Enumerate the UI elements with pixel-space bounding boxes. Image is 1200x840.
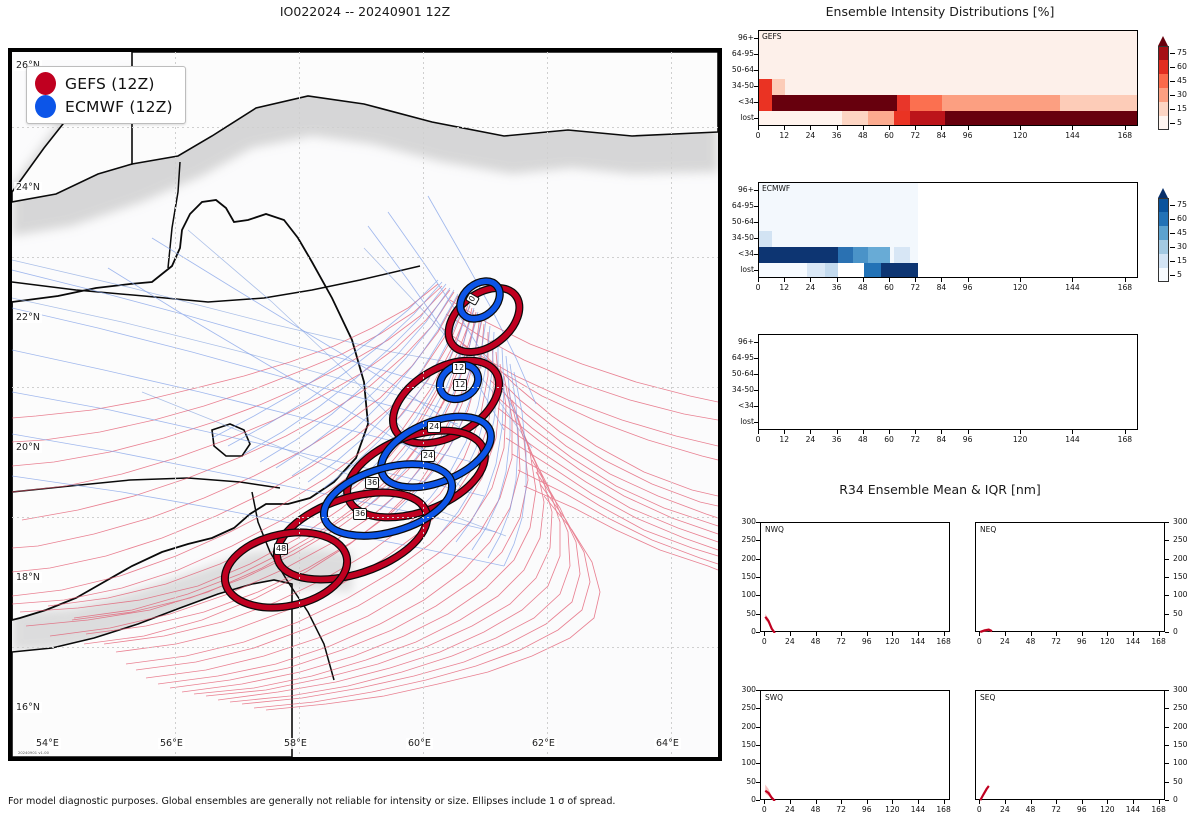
intensity-xtick: 12: [771, 131, 797, 140]
r34-ytick: 100: [734, 758, 756, 767]
r34-xtick: 48: [1020, 805, 1042, 814]
r34-xtick: 0: [753, 637, 775, 646]
r34-xtick: 0: [968, 805, 990, 814]
heatmap-cell: [759, 31, 1138, 47]
colorbar-tick-mark: [1170, 261, 1175, 262]
xtick-mark: [1125, 430, 1126, 434]
colorbar-tick-mark: [1170, 53, 1175, 54]
heatmap-cell: [868, 247, 890, 263]
r34-ytick: 300: [734, 685, 756, 694]
xtick-mark: [863, 126, 864, 130]
r34-xtick: 72: [830, 805, 852, 814]
r34-ytick: 50: [1173, 777, 1195, 786]
intensity-xtick: 36: [824, 131, 850, 140]
r34-xtick: 120: [1096, 805, 1118, 814]
r34-xtick: 120: [881, 637, 903, 646]
intensity-heatmap-empty[interactable]: [758, 334, 1138, 430]
r34-xtick-mark: [764, 632, 765, 636]
intensity-ytick: 64-95: [724, 353, 754, 362]
lat-label-16n: 16°N: [14, 702, 42, 713]
colorbar-tick-label: 5: [1177, 118, 1182, 127]
heatmap-cell: [838, 263, 864, 278]
r34-series-canvas: [976, 523, 1166, 633]
map-plot-frame[interactable]: 0 12 12 24 24 36 36 48 26°N 24°N 22°N 20…: [8, 48, 722, 761]
r34-xtick-mark: [1005, 632, 1006, 636]
lon-label-60e: 60°E: [406, 738, 433, 749]
heatmap-cell: [945, 111, 1138, 126]
r34-ytick-mark: [1165, 614, 1169, 615]
map-panel: IO022024 -- 20240901 12Z: [0, 0, 730, 840]
r34-xtick: 96: [1071, 637, 1093, 646]
legend-item-ecmwf[interactable]: ECMWF (12Z): [35, 95, 173, 118]
intensity-xtick: 96: [955, 283, 981, 292]
r34-xtick: 144: [907, 637, 929, 646]
intensity-xtick: 0: [745, 131, 771, 140]
colorbar-outline: [1158, 198, 1169, 282]
heatmap-cell: [910, 247, 919, 263]
r34-ytick-mark: [1165, 745, 1169, 746]
r34-xtick-mark: [918, 800, 919, 804]
colorbar-tick-label: 30: [1177, 90, 1187, 99]
intensity-xtick: 120: [1007, 131, 1033, 140]
heatmap-cell: [759, 231, 772, 247]
r34-ytick-mark: [756, 745, 760, 746]
r34-xtick: 24: [779, 805, 801, 814]
ytick-mark: [754, 374, 758, 375]
r34-ytick: 200: [1173, 554, 1195, 563]
r34-ytick: 200: [734, 722, 756, 731]
intensity-xtick: 120: [1007, 283, 1033, 292]
ytick-mark: [754, 206, 758, 207]
intensity-xtick: 48: [850, 435, 876, 444]
r34-ytick-mark: [1165, 522, 1169, 523]
colorbar-tick-mark: [1170, 275, 1175, 276]
intensity-xtick: 24: [797, 131, 823, 140]
xtick-mark: [837, 126, 838, 130]
r34-ytick: 250: [1173, 703, 1195, 712]
r34-ytick-mark: [756, 800, 760, 801]
r34-ytick-mark: [1165, 763, 1169, 764]
map-title: IO022024 -- 20240901 12Z: [0, 4, 730, 19]
r34-ytick-mark: [756, 763, 760, 764]
colorbar-tick-label: 60: [1177, 62, 1187, 71]
r34-ytick-mark: [756, 614, 760, 615]
xtick-mark: [1072, 430, 1073, 434]
gridline-64e: [671, 52, 672, 757]
intensity-ytick: 50-64: [724, 369, 754, 378]
intensity-ytick: 64-95: [724, 201, 754, 210]
ytick-mark: [754, 238, 758, 239]
r34-quadrant-nwq[interactable]: NWQ: [760, 522, 950, 632]
intensity-xtick: 84: [928, 435, 954, 444]
intensity-ytick: 96+: [724, 185, 754, 194]
heatmap-cell: [759, 215, 918, 231]
r34-quadrant-tag: SEQ: [980, 693, 995, 702]
intensity-ytick: <34: [724, 249, 754, 258]
colorbar-gefs[interactable]: 75604530155: [1158, 36, 1200, 146]
r34-xtick: 168: [1148, 805, 1170, 814]
r34-ytick-mark: [756, 782, 760, 783]
xtick-mark: [758, 126, 759, 130]
r34-ytick: 300: [1173, 517, 1195, 526]
intensity-ytick: lost: [724, 265, 754, 274]
r34-xtick: 144: [1122, 637, 1144, 646]
xtick-mark: [1020, 430, 1021, 434]
lat-label-22n: 22°N: [14, 312, 42, 323]
xtick-mark: [915, 430, 916, 434]
r34-ytick: 250: [734, 703, 756, 712]
xtick-mark: [889, 278, 890, 282]
xtick-mark: [784, 126, 785, 130]
intensity-xtick: 24: [797, 283, 823, 292]
intensity-xtick: 72: [902, 435, 928, 444]
r34-ytick: 150: [1173, 572, 1195, 581]
ytick-mark: [754, 390, 758, 391]
heatmap-cell: [759, 199, 918, 215]
r34-xtick: 72: [1045, 805, 1067, 814]
xtick-mark: [941, 430, 942, 434]
colorbar-tick-label: 15: [1177, 104, 1187, 113]
xtick-mark: [968, 430, 969, 434]
intensity-ytick: 96+: [724, 337, 754, 346]
intensity-heatmap-gefs[interactable]: GEFS: [758, 30, 1138, 126]
xtick-mark: [837, 430, 838, 434]
heatmap-model-tag: ECMWF: [762, 184, 790, 193]
r34-xtick-mark: [1107, 800, 1108, 804]
r34-ytick-mark: [756, 632, 760, 633]
footer-disclaimer: For model diagnostic purposes. Global en…: [8, 796, 728, 807]
colorbar-tick-label: 75: [1177, 48, 1187, 57]
xtick-mark: [810, 278, 811, 282]
lon-label-56e: 56°E: [158, 738, 185, 749]
r34-xtick: 0: [753, 805, 775, 814]
colorbar-tick-mark: [1170, 81, 1175, 82]
r34-ytick-mark: [1165, 595, 1169, 596]
ytick-mark: [754, 270, 758, 271]
r34-ytick-mark: [1165, 800, 1169, 801]
intensity-xtick: 48: [850, 131, 876, 140]
r34-xtick-mark: [979, 632, 980, 636]
r34-xtick-mark: [1005, 800, 1006, 804]
legend-item-gefs[interactable]: GEFS (12Z): [35, 72, 173, 95]
intensity-ytick: 50-64: [724, 217, 754, 226]
ytick-mark: [754, 342, 758, 343]
intensity-xtick: 24: [797, 435, 823, 444]
xtick-mark: [1072, 278, 1073, 282]
r34-ytick: 100: [1173, 758, 1195, 767]
ytick-mark: [754, 38, 758, 39]
r34-xtick: 144: [907, 805, 929, 814]
intensity-xtick: 144: [1059, 131, 1085, 140]
ytick-mark: [754, 422, 758, 423]
r34-xtick: 72: [1045, 637, 1067, 646]
r34-ytick-mark: [756, 708, 760, 709]
ellipse-label-ecmwf-24: 24: [427, 421, 441, 433]
colorbar-tick-label: 45: [1177, 76, 1187, 85]
r34-xtick: 168: [1148, 637, 1170, 646]
r34-ytick: 150: [734, 572, 756, 581]
ytick-mark: [754, 102, 758, 103]
colorbar-ecmwf[interactable]: 75604530155: [1158, 188, 1200, 298]
xtick-mark: [810, 430, 811, 434]
r34-title: R34 Ensemble Mean & IQR [nm]: [730, 482, 1150, 497]
r34-xtick: 96: [856, 805, 878, 814]
xtick-mark: [941, 126, 942, 130]
r34-xtick-mark: [1159, 632, 1160, 636]
r34-quadrant-seq[interactable]: SEQ: [975, 690, 1165, 800]
intensity-ytick: 34-50: [724, 385, 754, 394]
intensity-ytick: <34: [724, 97, 754, 106]
r34-ytick: 200: [734, 554, 756, 563]
intensity-heatmap-ecmwf[interactable]: ECMWF: [758, 182, 1138, 278]
colorbar-tick-label: 15: [1177, 256, 1187, 265]
r34-ytick: 0: [734, 627, 756, 636]
intensity-xtick: 168: [1112, 435, 1138, 444]
r34-xtick-mark: [918, 632, 919, 636]
heatmap-cell: [1060, 95, 1138, 111]
xtick-mark: [863, 278, 864, 282]
lat-label-18n: 18°N: [14, 572, 42, 583]
r34-ytick-mark: [756, 727, 760, 728]
colorbar-tick-mark: [1170, 95, 1175, 96]
ytick-mark: [754, 358, 758, 359]
r34-quadrant-neq[interactable]: NEQ: [975, 522, 1165, 632]
r34-xtick: 48: [805, 637, 827, 646]
xtick-mark: [889, 430, 890, 434]
r34-xtick: 144: [1122, 805, 1144, 814]
heatmap-cell: [881, 263, 918, 278]
r34-ytick: 50: [1173, 609, 1195, 618]
xtick-mark: [863, 430, 864, 434]
r34-ytick-mark: [756, 577, 760, 578]
ellipse-label-ecmwf-36: 36: [365, 477, 379, 489]
r34-xtick-mark: [1133, 632, 1134, 636]
heatmap-cell: [894, 247, 909, 263]
r34-xtick-mark: [1082, 632, 1083, 636]
intensity-xtick: 120: [1007, 435, 1033, 444]
gefs-marker-icon: [35, 72, 56, 95]
r34-ytick: 0: [734, 795, 756, 804]
colorbar-tick-mark: [1170, 247, 1175, 248]
ytick-mark: [754, 54, 758, 55]
heatmap-cell: [910, 95, 943, 111]
map-canvas[interactable]: 0 12 12 24 24 36 36 48 26°N 24°N 22°N 20…: [12, 52, 718, 757]
colorbar-tick-mark: [1170, 109, 1175, 110]
xtick-mark: [1020, 126, 1021, 130]
r34-xtick: 168: [933, 637, 955, 646]
heatmap-cell: [897, 95, 910, 111]
heatmap-cell: [838, 247, 853, 263]
colorbar-tick-mark: [1170, 123, 1175, 124]
intensity-xtick: 72: [902, 283, 928, 292]
r34-xtick-mark: [1133, 800, 1134, 804]
r34-series-canvas: [761, 691, 951, 801]
heatmap-cell: [825, 263, 838, 278]
gridline-58e: [299, 52, 300, 757]
heatmap-cell: [759, 79, 772, 95]
intensity-xtick: 60: [876, 283, 902, 292]
r34-ytick-mark: [756, 690, 760, 691]
r34-ytick-mark: [756, 522, 760, 523]
r34-ytick: 0: [1173, 627, 1195, 636]
lon-label-58e: 58°E: [282, 738, 309, 749]
map-legend[interactable]: GEFS (12Z) ECMWF (12Z): [26, 66, 186, 124]
r34-ytick-mark: [1165, 708, 1169, 709]
intensity-ytick: lost: [724, 417, 754, 426]
intensity-xtick: 84: [928, 131, 954, 140]
heatmap-cell: [868, 111, 894, 126]
r34-xtick: 24: [994, 637, 1016, 646]
intensity-xtick: 12: [771, 435, 797, 444]
heatmap-cell: [853, 247, 868, 263]
r34-ytick-mark: [1165, 727, 1169, 728]
gridline-22n: [12, 257, 718, 258]
colorbar-tick-label: 75: [1177, 200, 1187, 209]
r34-xtick: 0: [968, 637, 990, 646]
intensity-xtick: 144: [1059, 283, 1085, 292]
heatmap-cell: [807, 263, 824, 278]
colorbar-over-arrow-icon: [1158, 188, 1168, 198]
ytick-mark: [754, 406, 758, 407]
xtick-mark: [889, 126, 890, 130]
colorbar-over-arrow-icon: [1158, 36, 1168, 46]
heatmap-cell: [785, 79, 1138, 95]
r34-ytick: 100: [1173, 590, 1195, 599]
xtick-mark: [784, 278, 785, 282]
xtick-mark: [915, 126, 916, 130]
r34-ytick: 100: [734, 590, 756, 599]
colorbar-tick-label: 45: [1177, 228, 1187, 237]
r34-ytick: 50: [734, 609, 756, 618]
legend-label-gefs: GEFS (12Z): [65, 75, 155, 93]
gridline-16n: [12, 647, 718, 648]
r34-xtick-mark: [841, 632, 842, 636]
intensity-xtick: 36: [824, 435, 850, 444]
map-credit: 20240901 v1.00: [18, 751, 49, 755]
analysis-column: Ensemble Intensity Distributions [%] R34…: [730, 0, 1200, 840]
gridline-60e: [423, 52, 424, 757]
heatmap-cell: [864, 263, 881, 278]
r34-ytick-mark: [1165, 540, 1169, 541]
intensity-xtick: 48: [850, 283, 876, 292]
intensity-xtick: 168: [1112, 131, 1138, 140]
r34-series-canvas: [976, 691, 1166, 801]
r34-xtick-mark: [816, 800, 817, 804]
r34-ytick-mark: [1165, 690, 1169, 691]
lon-label-62e: 62°E: [530, 738, 557, 749]
xtick-mark: [915, 278, 916, 282]
intensity-xtick: 60: [876, 131, 902, 140]
r34-xtick-mark: [944, 800, 945, 804]
r34-ytick-mark: [756, 595, 760, 596]
r34-ytick-mark: [756, 559, 760, 560]
r34-xtick-mark: [1107, 632, 1108, 636]
colorbar-tick-label: 5: [1177, 270, 1182, 279]
r34-xtick: 120: [881, 805, 903, 814]
r34-ytick-mark: [1165, 559, 1169, 560]
intensity-xtick: 0: [745, 283, 771, 292]
colorbar-tick-mark: [1170, 233, 1175, 234]
heatmap-cell: [942, 95, 1060, 111]
lat-label-20n: 20°N: [14, 442, 42, 453]
xtick-mark: [784, 430, 785, 434]
r34-xtick-mark: [867, 800, 868, 804]
ytick-mark: [754, 222, 758, 223]
colorbar-outline: [1158, 46, 1169, 130]
xtick-mark: [968, 278, 969, 282]
xtick-mark: [1125, 278, 1126, 282]
r34-xtick-mark: [764, 800, 765, 804]
intensity-ytick: lost: [724, 113, 754, 122]
r34-ytick: 200: [1173, 722, 1195, 731]
ytick-mark: [754, 86, 758, 87]
lon-label-64e: 64°E: [654, 738, 681, 749]
xtick-mark: [941, 278, 942, 282]
r34-ytick-mark: [1165, 632, 1169, 633]
intensity-xtick: 12: [771, 283, 797, 292]
heatmap-cell: [759, 95, 772, 111]
ellipse-label-gefs-36: 36: [353, 508, 367, 520]
heatmap-cell: [910, 111, 945, 126]
r34-xtick: 48: [1020, 637, 1042, 646]
ellipse-label-gefs-48: 48: [274, 543, 288, 555]
xtick-mark: [1125, 126, 1126, 130]
heatmap-cell: [772, 231, 918, 247]
r34-xtick: 96: [856, 637, 878, 646]
r34-ytick: 150: [1173, 740, 1195, 749]
r34-ytick: 250: [734, 535, 756, 544]
r34-xtick: 48: [805, 805, 827, 814]
r34-xtick-mark: [944, 632, 945, 636]
gridline-62e: [547, 52, 548, 757]
xtick-mark: [1072, 126, 1073, 130]
intensity-title: Ensemble Intensity Distributions [%]: [730, 4, 1150, 19]
r34-quadrant-swq[interactable]: SWQ: [760, 690, 950, 800]
r34-ytick-mark: [1165, 577, 1169, 578]
intensity-ytick: 34-50: [724, 233, 754, 242]
intensity-ytick: <34: [724, 401, 754, 410]
r34-ytick: 300: [1173, 685, 1195, 694]
intensity-ytick: 96+: [724, 33, 754, 42]
heatmap-cell: [842, 111, 868, 126]
intensity-xtick: 36: [824, 283, 850, 292]
intensity-ytick: 34-50: [724, 81, 754, 90]
xtick-mark: [968, 126, 969, 130]
r34-xtick-mark: [979, 800, 980, 804]
r34-xtick-mark: [790, 800, 791, 804]
r34-ytick-mark: [756, 540, 760, 541]
ellipse-label-gefs-12: 12: [453, 379, 467, 391]
r34-xtick-mark: [790, 632, 791, 636]
intensity-xtick: 60: [876, 435, 902, 444]
ytick-mark: [754, 190, 758, 191]
heatmap-cell: [894, 111, 909, 126]
xtick-mark: [837, 278, 838, 282]
r34-xtick-mark: [892, 800, 893, 804]
gridline-56e: [175, 52, 176, 757]
intensity-xtick: 84: [928, 283, 954, 292]
legend-label-ecmwf: ECMWF (12Z): [65, 98, 173, 116]
colorbar-tick-mark: [1170, 67, 1175, 68]
lat-label-24n: 24°N: [14, 182, 42, 193]
r34-xtick: 168: [933, 805, 955, 814]
colorbar-tick-label: 60: [1177, 214, 1187, 223]
r34-xtick-mark: [1031, 632, 1032, 636]
r34-xtick-mark: [1031, 800, 1032, 804]
r34-ytick: 250: [1173, 535, 1195, 544]
r34-series-canvas: [761, 523, 951, 633]
gridline-24n: [12, 127, 718, 128]
